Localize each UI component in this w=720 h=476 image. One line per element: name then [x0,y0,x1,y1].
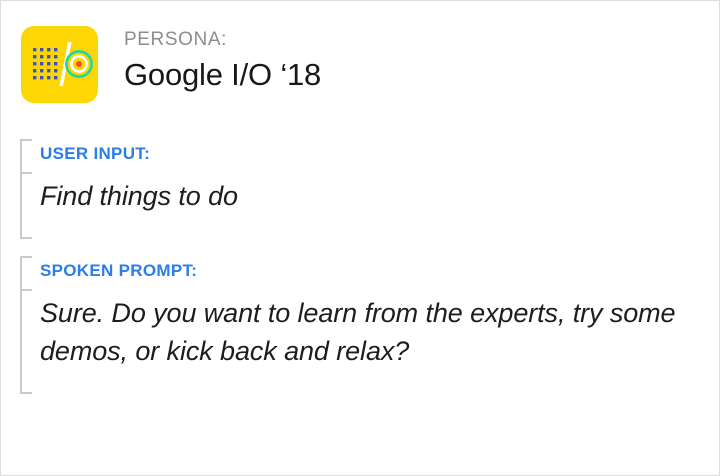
bracket-tick-mid [20,172,32,174]
logo-center-dot [76,61,82,67]
bracket-tick-top [20,256,32,258]
section-label-spoken-prompt: SPOKEN PROMPT: [40,256,680,279]
bracket-tick-mid [20,289,32,291]
persona-text-group: PERSONA: Google I/O ‘18 [124,26,321,95]
section-spoken-prompt: SPOKEN PROMPT: Sure. Do you want to lear… [20,256,680,394]
bracket-tick-bottom [20,237,32,239]
page-card: PERSONA: Google I/O ‘18 USER INPUT: Find… [0,0,720,476]
section-label-user-input: USER INPUT: [40,139,238,162]
bracket-tick-bottom [20,392,32,394]
section-body-spoken-prompt: Sure. Do you want to learn from the expe… [40,294,680,371]
bracket-user-input: USER INPUT: Find things to do [20,139,238,239]
page-title: Google I/O ‘18 [124,55,321,95]
google-io-logo [21,26,98,103]
bracket-spoken-prompt: SPOKEN PROMPT: Sure. Do you want to lear… [20,256,680,394]
logo-dot-grid [33,48,57,79]
bracket-tick-top [20,139,32,141]
bracket-rail [20,139,22,239]
section-user-input: USER INPUT: Find things to do [20,139,238,239]
persona-label: PERSONA: [124,28,321,52]
bracket-rail [20,256,22,394]
section-body-user-input: Find things to do [40,177,238,215]
persona-header: PERSONA: Google I/O ‘18 [21,26,321,103]
